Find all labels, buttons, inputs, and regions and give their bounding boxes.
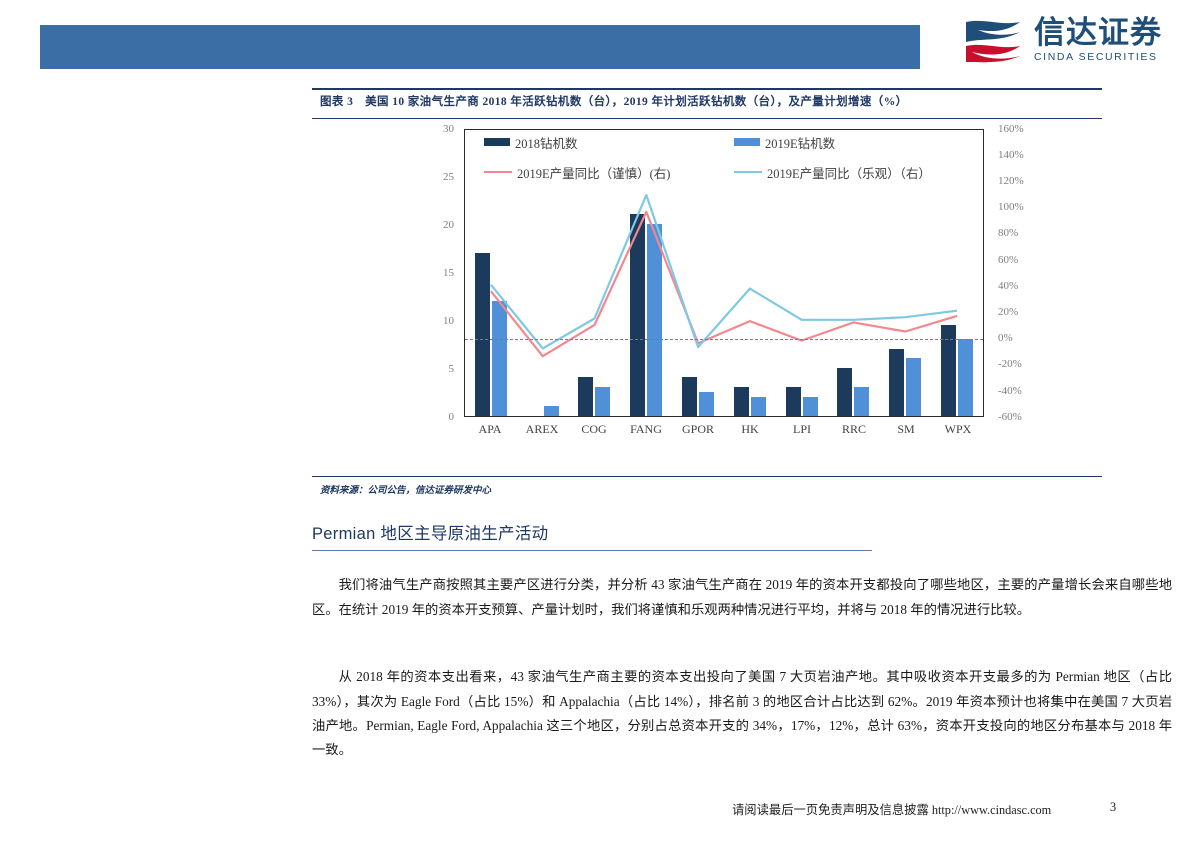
company-logo: 信达证券 CINDA SECURITIES [962,16,1162,64]
y-axis-left-tick: 10 [443,315,454,327]
header-band [40,25,920,69]
x-axis-tick-wpx: WPX [932,422,984,444]
y-axis-left-tick: 25 [443,171,454,183]
footer-page-number: 3 [1110,800,1116,815]
y-axis-right-tick: 140% [998,149,1024,161]
y-axis-left-tick: 15 [443,267,454,279]
y-axis-right-tick: -60% [998,411,1022,423]
page-footer: 请阅读最后一页免责声明及信息披露 http://www.cindasc.com … [0,800,1190,824]
y-axis-right-labels: 160%140%120%100%80%60%40%20%0%-20%-40%-6… [992,129,1032,417]
footer-disclaimer: 请阅读最后一页免责声明及信息披露 http://www.cindasc.com [732,800,1051,818]
cinda-logo-icon [962,16,1024,64]
plot-area [464,129,984,417]
section-heading-rule [312,550,872,551]
x-axis-tick-cog: COG [568,422,620,444]
y-axis-left-tick: 30 [443,123,454,135]
exhibit-block: 图表 3 美国 10 家油气生产商 2018 年活跃钻机数（台），2019 年计… [312,88,1102,496]
x-axis-labels: APAAREXCOGFANGGPORHKLPIRRCSMWPX [464,422,984,444]
body-paragraph-1: 我们将油气生产商按照其主要产区进行分类，并分析 43 家油气生产商在 2019 … [312,573,1172,622]
x-axis-tick-gpor: GPOR [672,422,724,444]
y-axis-right-tick: 0% [998,332,1013,344]
y-axis-right-tick: 60% [998,254,1018,266]
y-axis-left-tick: 0 [449,411,455,423]
y-axis-left-labels: 302520151050 [420,129,460,417]
logo-company-en: CINDA SECURITIES [1034,52,1162,63]
x-axis-tick-sm: SM [880,422,932,444]
lines-layer [465,130,983,416]
x-axis-tick-rrc: RRC [828,422,880,444]
y-axis-right-tick: -20% [998,358,1022,370]
zero-reference-line [465,339,983,340]
chart-figure: 302520151050 160%140%120%100%80%60%40%20… [312,119,1102,474]
logo-company-cn: 信达证券 [1034,17,1162,48]
x-axis-tick-hk: HK [724,422,776,444]
y-axis-left-tick: 20 [443,219,454,231]
line-yoy-conservative [491,212,957,356]
exhibit-source: 资料来源：公司公告，信达证券研发中心 [312,477,1102,496]
section-heading-text: Permian 地区主导原油生产活动 [312,520,872,550]
y-axis-right-tick: 40% [998,280,1018,292]
x-axis-tick-lpi: LPI [776,422,828,444]
x-axis-tick-fang: FANG [620,422,672,444]
line-yoy-optimistic [491,195,957,348]
y-axis-right-tick: -40% [998,385,1022,397]
x-axis-tick-arex: AREX [516,422,568,444]
y-axis-right-tick: 100% [998,201,1024,213]
y-axis-right-tick: 120% [998,175,1024,187]
y-axis-right-tick: 160% [998,123,1024,135]
exhibit-title: 图表 3 美国 10 家油气生产商 2018 年活跃钻机数（台），2019 年计… [312,90,1102,116]
x-axis-tick-apa: APA [464,422,516,444]
section-heading: Permian 地区主导原油生产活动 [312,520,872,551]
body-paragraph-2: 从 2018 年的资本支出看来，43 家油气生产商主要的资本支出投向了美国 7 … [312,665,1172,762]
y-axis-left-tick: 5 [449,363,455,375]
logo-text: 信达证券 CINDA SECURITIES [1034,17,1162,63]
y-axis-right-tick: 80% [998,227,1018,239]
y-axis-right-tick: 20% [998,306,1018,318]
